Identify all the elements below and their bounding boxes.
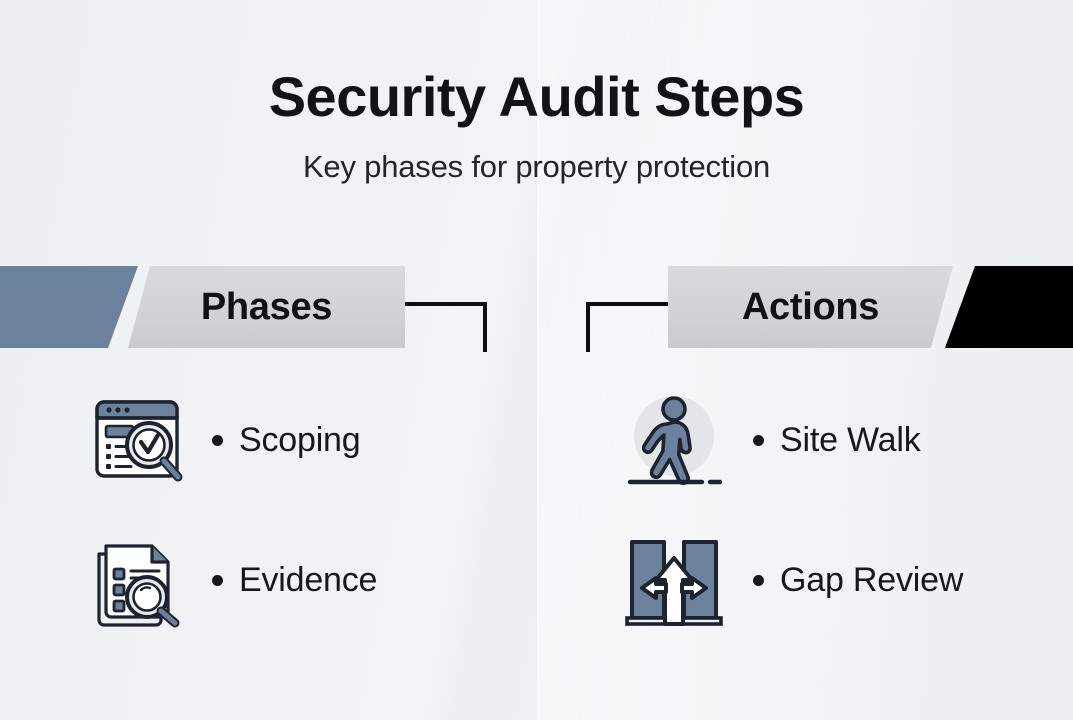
list-item: Site Walk [537,380,1073,500]
list-item: Evidence [0,520,536,640]
label-text: Scoping [239,421,360,460]
walking-person-icon [622,386,726,494]
browser-search-check-icon [85,388,189,492]
page-title: Security Audit Steps [0,0,1073,127]
label-text: Evidence [239,561,377,600]
bullet-icon [212,435,223,446]
list-item-label-site-walk: Site Walk [753,421,921,460]
list-item-label-evidence: Evidence [212,561,377,600]
header: Security Audit Steps Key phases for prop… [0,0,1073,185]
page-subtitle: Key phases for property protection [0,127,1073,185]
bullet-icon [753,575,764,586]
banner-label-phases: Phases [128,266,405,348]
label-text: Site Walk [780,421,921,460]
list-item: Gap Review [537,520,1073,640]
banner-accent-left [0,266,138,348]
scoping-icon-box [78,388,196,492]
infographic-canvas: Security Audit Steps Key phases for prop… [0,0,1073,720]
bullet-icon [212,575,223,586]
banner-row: Phases Actions [0,266,1073,348]
label-text: Gap Review [780,561,963,600]
bullet-icon [753,435,764,446]
gap-arrows-pillars-icon [622,530,726,630]
column-phases: Scoping [0,380,536,680]
gap-review-icon-box [615,530,733,630]
list-item-label-gap-review: Gap Review [753,561,963,600]
column-actions: Site Walk Gap Review [537,380,1073,680]
banner-accent-right [945,266,1073,348]
site-walk-icon-box [615,386,733,494]
banner-label-actions: Actions [668,266,953,348]
list-item-label-scoping: Scoping [212,421,360,460]
evidence-icon-box [78,528,196,632]
document-checklist-search-icon [85,528,189,632]
list-item: Scoping [0,380,536,500]
